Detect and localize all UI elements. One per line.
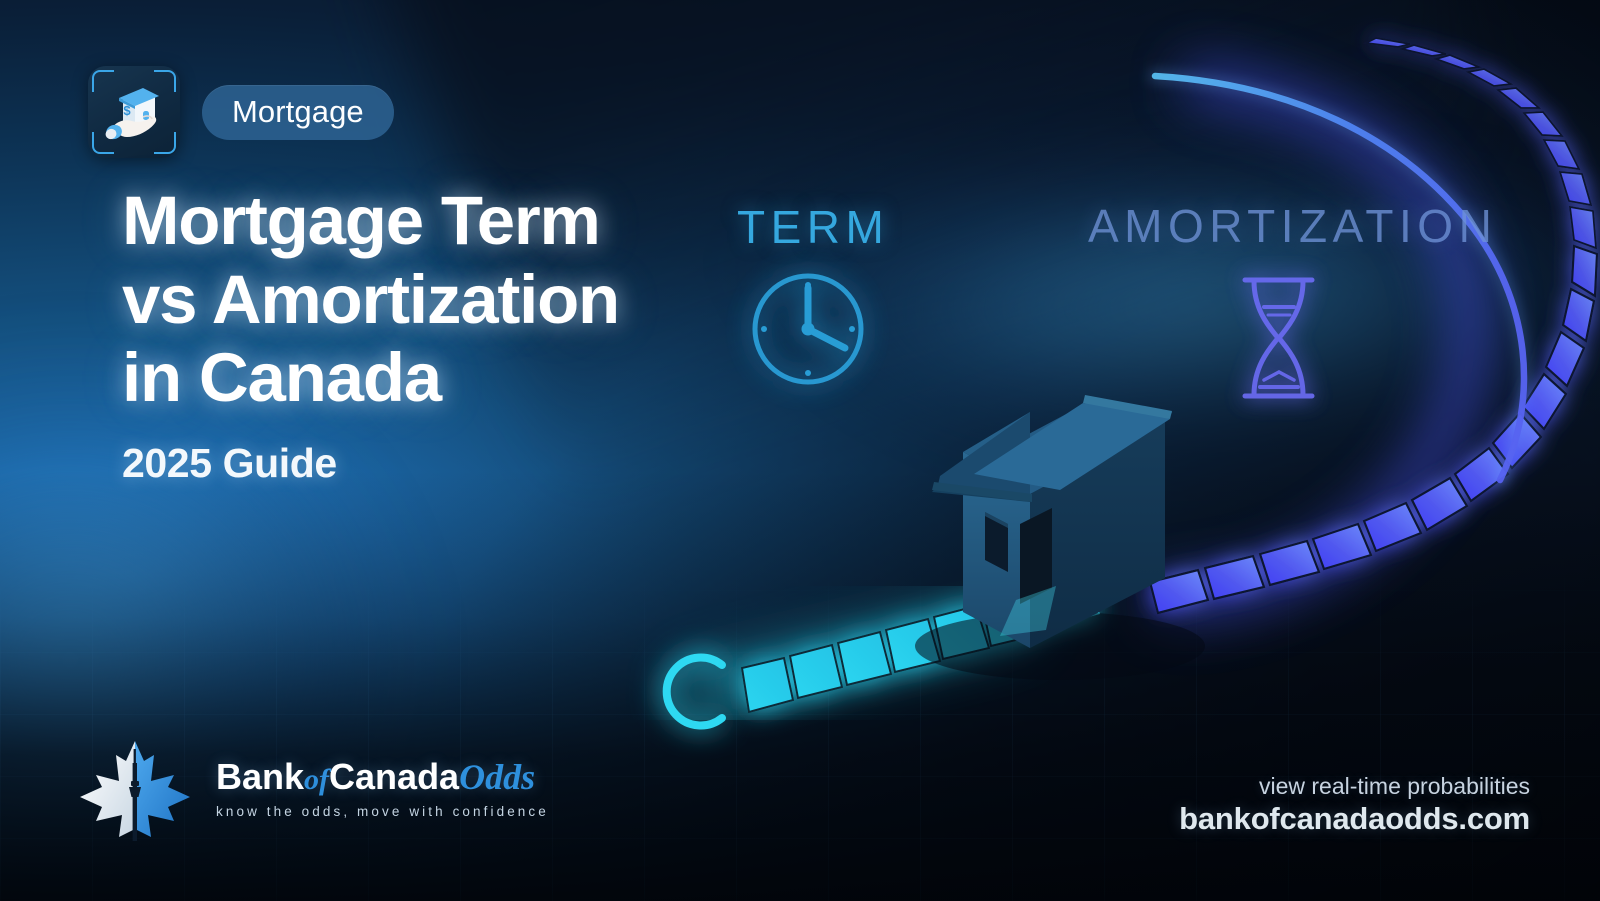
cta-block[interactable]: view real-time probabilities bankofcanad… <box>1179 772 1530 840</box>
title-line-1: Mortgage Term <box>122 182 600 259</box>
brand-of: of <box>304 763 329 796</box>
term-label: TERM <box>737 200 889 254</box>
app-icon-frame[interactable]: $ <box>88 66 180 158</box>
brand-odds: Odds <box>459 757 535 797</box>
canada-maple-leaf-cn-tower-icon <box>74 735 196 843</box>
category-badge-row: $ Mortgage <box>88 66 394 158</box>
page-title: Mortgage Term vs Amortization in Canada <box>122 182 762 418</box>
amortization-label: AMORTIZATION <box>1088 199 1497 253</box>
title-line-2: vs Amortization <box>122 261 619 338</box>
hand-holding-house-icon: $ <box>99 77 169 147</box>
promo-graphic: $ Mortgage Mortgage Term vs Amortization… <box>0 0 1600 901</box>
headline-block: Mortgage Term vs Amortization in Canada … <box>122 182 762 487</box>
page-subtitle: 2025 Guide <box>122 440 762 487</box>
cta-url[interactable]: bankofcanadaodds.com <box>1179 800 1530 839</box>
title-line-3: in Canada <box>122 339 441 416</box>
brand-wordmark: BankofCanadaOdds <box>216 759 549 795</box>
cta-caption: view real-time probabilities <box>1179 772 1530 801</box>
brand-bank: Bank <box>216 756 304 797</box>
svg-text:$: $ <box>123 103 131 118</box>
brand-wordmark-block: BankofCanadaOdds know the odds, move wit… <box>216 759 549 819</box>
brand-canada: Canada <box>329 756 459 797</box>
brand-tagline: know the odds, move with confidence <box>216 804 549 819</box>
brand-logo[interactable]: BankofCanadaOdds know the odds, move wit… <box>74 735 549 843</box>
category-badge[interactable]: Mortgage <box>202 85 394 140</box>
